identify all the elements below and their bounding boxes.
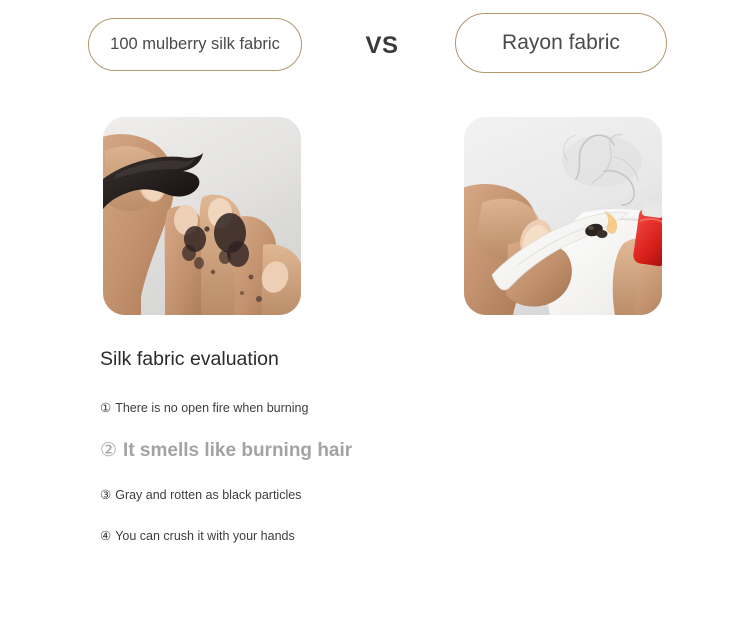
list-item: ③ Gray and rotten as black particles xyxy=(100,487,301,504)
list-item-number: ④ xyxy=(100,528,111,545)
silk-eval-title: Silk fabric evaluation xyxy=(100,348,279,371)
comparison-page: 100 mulberry silk fabric VS Rayon fabric xyxy=(0,0,755,642)
list-item-text: There is no open fire when burning xyxy=(115,400,308,417)
list-item-number: ① xyxy=(100,400,111,417)
fabric-badge-rayon-label: Rayon fabric xyxy=(502,31,620,55)
list-item: ① There is no open fire when burning xyxy=(100,400,308,417)
fabric-badge-rayon[interactable]: Rayon fabric xyxy=(455,13,667,73)
list-item-text: You can crush it with your hands xyxy=(115,528,295,545)
versus-label: VS xyxy=(352,32,412,60)
list-item: ④ You can crush it with your hands xyxy=(100,528,295,545)
list-item-text: It smells like burning hair xyxy=(123,438,352,464)
rayon-burn-illustration xyxy=(464,117,662,315)
list-item-number: ② xyxy=(100,438,117,464)
fabric-badge-silk-label: 100 mulberry silk fabric xyxy=(110,35,280,54)
list-item-text: Gray and rotten as black particles xyxy=(115,487,301,504)
list-item: ② It smells like burning hair xyxy=(100,438,352,464)
header-compare-bar: 100 mulberry silk fabric VS Rayon fabric xyxy=(0,0,755,95)
rayon-burn-photo xyxy=(464,117,662,315)
list-item-number: ③ xyxy=(100,487,111,504)
silk-burn-photo xyxy=(103,117,301,315)
fabric-badge-silk[interactable]: 100 mulberry silk fabric xyxy=(88,18,302,71)
silk-burn-illustration xyxy=(103,117,301,315)
